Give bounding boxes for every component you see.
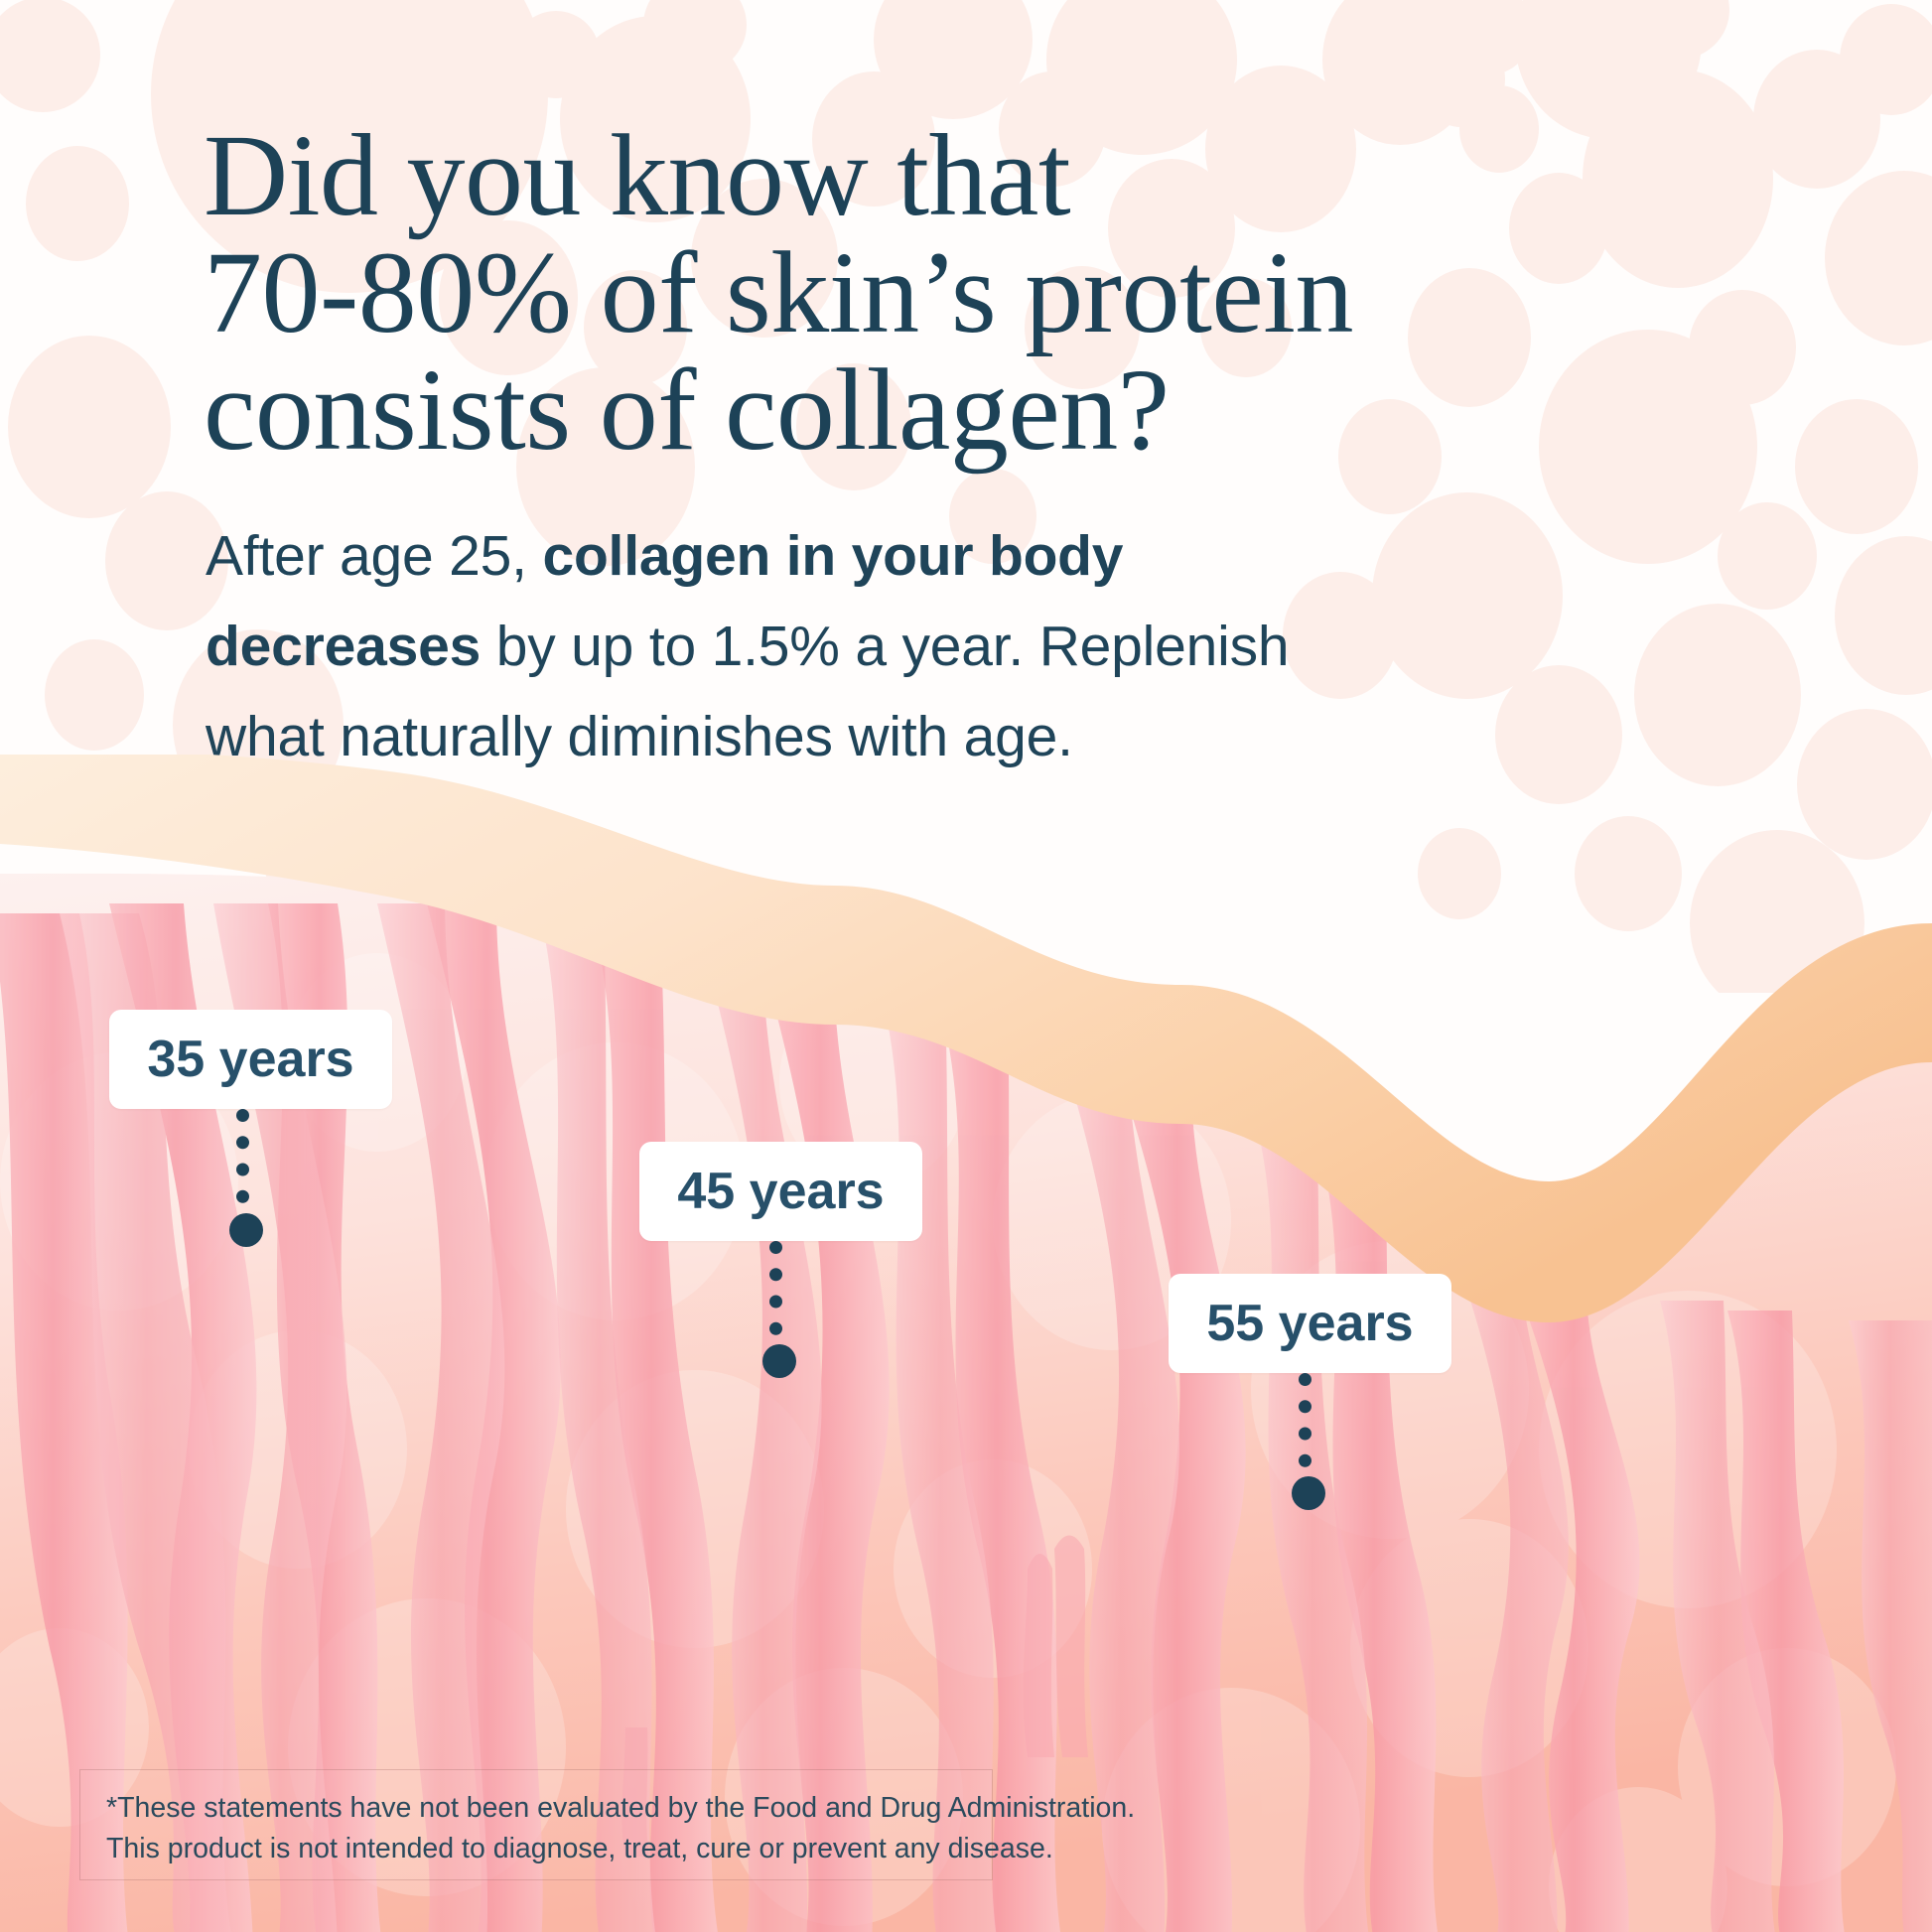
disclaimer-line-2: This product is not intended to diagnose…	[106, 1829, 966, 1869]
skin-cross-section-icon	[0, 755, 1932, 1932]
age-label-45: 45 years	[639, 1142, 922, 1241]
age-label-35: 35 years	[109, 1010, 392, 1109]
leader-endpoint-dot-icon	[1292, 1476, 1325, 1510]
age-label-55: 55 years	[1169, 1274, 1451, 1373]
disclaimer-line-1: *These statements have not been evaluate…	[106, 1788, 966, 1829]
body-paragraph: After age 25, collagen in your body decr…	[206, 511, 1387, 782]
leader-endpoint-dot-icon	[762, 1344, 796, 1378]
infographic-canvas: Did you know that 70-80% of skin’s prote…	[0, 0, 1932, 1932]
body-segment-1: After age 25,	[206, 524, 542, 588]
disclaimer-box: *These statements have not been evaluate…	[79, 1769, 993, 1880]
page-title: Did you know that 70-80% of skin’s prote…	[204, 117, 1534, 469]
leader-endpoint-dot-icon	[229, 1213, 263, 1247]
dotted-leader-line-icon	[236, 1109, 262, 1230]
